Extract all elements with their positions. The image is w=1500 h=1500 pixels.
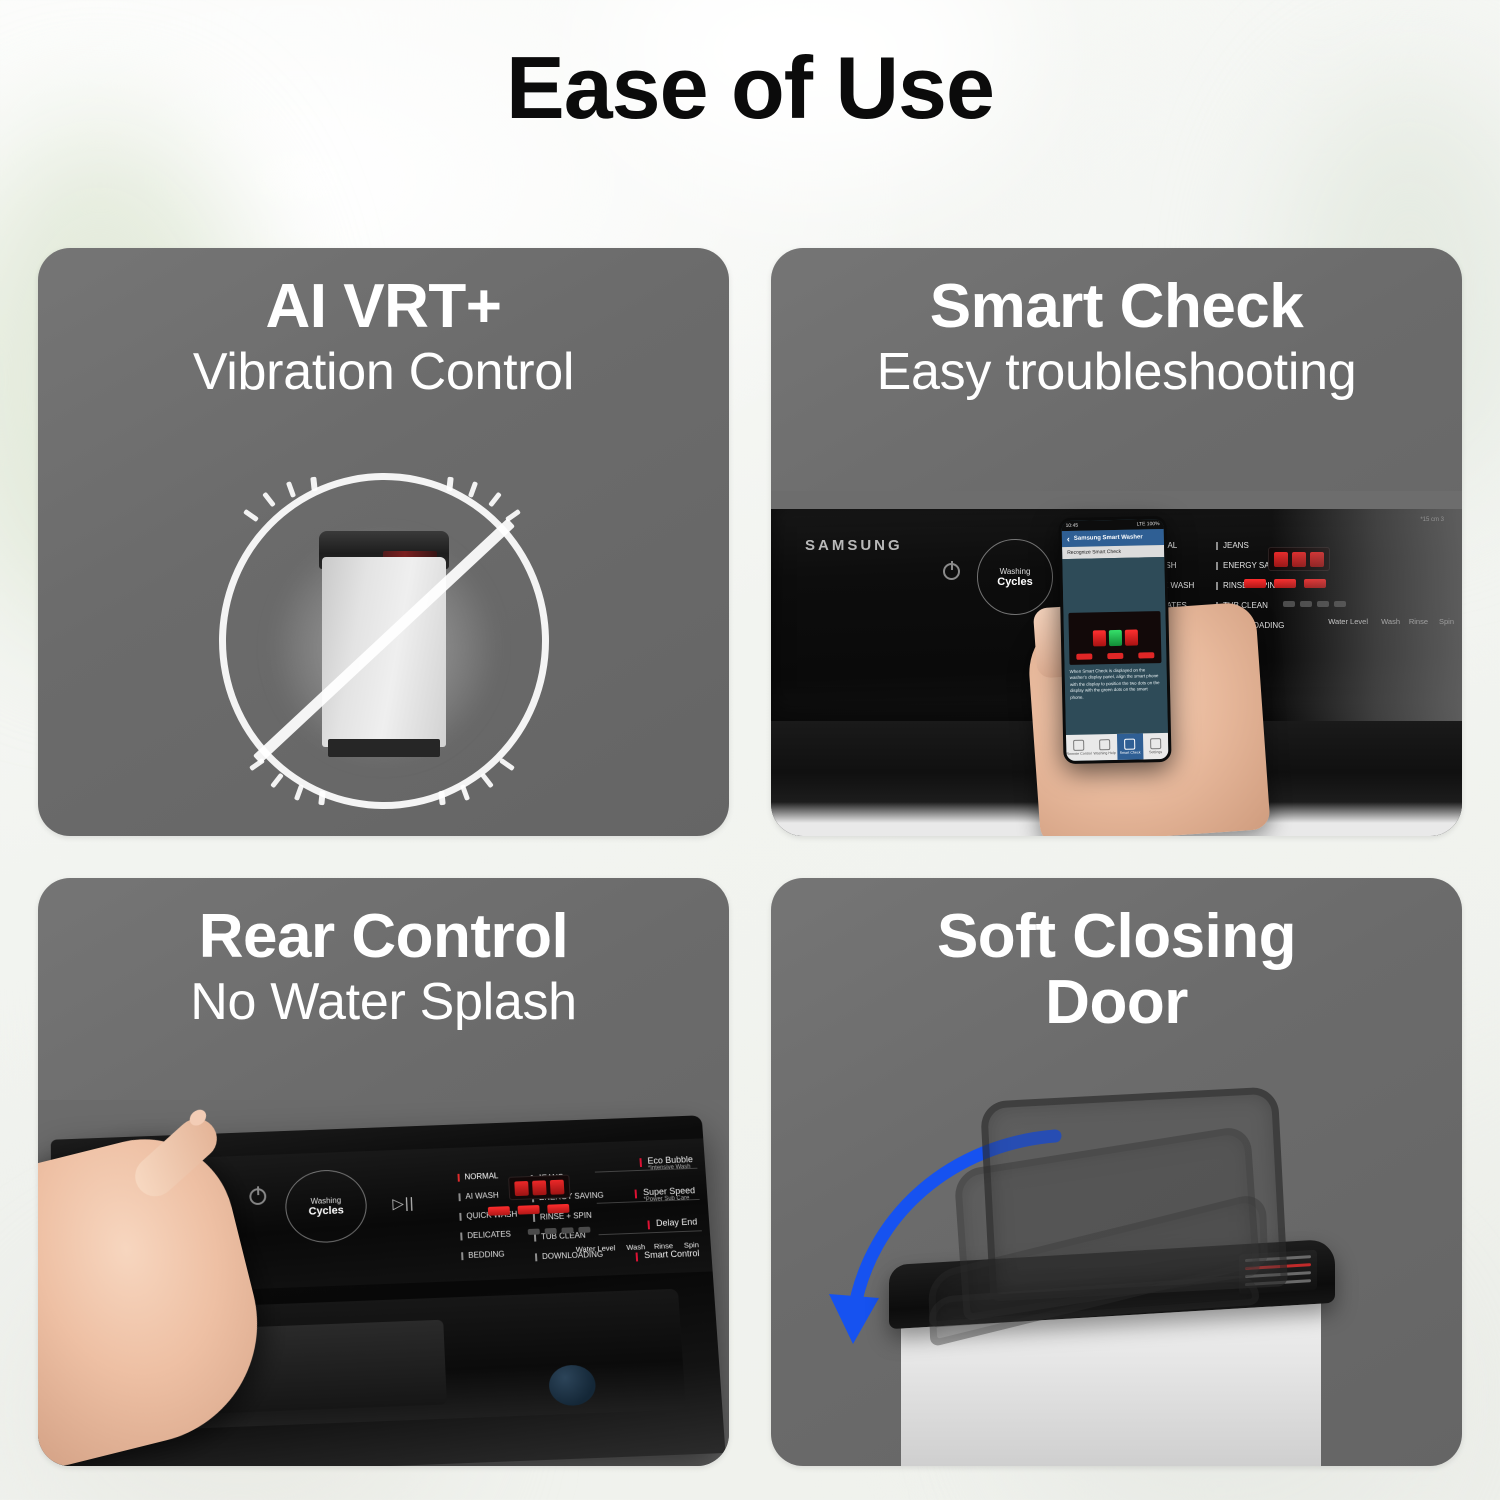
tab-label-settings: Settings xyxy=(1149,750,1162,754)
washing-cycles-dial[interactable]: Washing Cycles xyxy=(977,539,1053,615)
level-rinse[interactable]: Rinse xyxy=(1409,617,1428,626)
status-dots-row1 xyxy=(1283,601,1346,607)
phone-content: When Smart Check is displayed on the was… xyxy=(1062,557,1168,735)
scan-icon xyxy=(1124,739,1135,750)
level-spin[interactable]: Spin xyxy=(1439,617,1454,626)
tab-remote-control[interactable]: Remote Control xyxy=(1066,735,1092,762)
cycle-delicates-rear[interactable]: DELICATES xyxy=(467,1230,511,1241)
quick-button-stop[interactable] xyxy=(1274,579,1296,588)
panel-title-rear-control: Rear Control xyxy=(56,904,711,970)
dial-label-bottom-rear: Cycles xyxy=(308,1204,344,1217)
level-rinse-label: Rinse xyxy=(1409,617,1428,626)
panel-heading-smart-check: Smart Check Easy troubleshooting xyxy=(771,274,1462,401)
panel-title-soft-closing-line2: Door xyxy=(789,970,1444,1036)
dial-label-top: Washing xyxy=(1000,567,1031,576)
level-water-label: Water Level xyxy=(1328,617,1368,626)
lid-position-open xyxy=(980,1086,1288,1301)
level-water-rear[interactable]: Water Level xyxy=(576,1243,616,1253)
cycle-bedding-rear[interactable]: BEDDING xyxy=(468,1250,505,1260)
chevron-left-icon[interactable]: ‹ xyxy=(1067,534,1070,544)
quick-button-temp-rear[interactable] xyxy=(547,1204,569,1214)
samsung-logo: SAMSUNG xyxy=(805,537,903,554)
fingernail xyxy=(187,1106,210,1128)
option-delay-end-label: Delay End xyxy=(656,1217,698,1228)
led-display xyxy=(1268,547,1330,571)
panel-heading-rear-control: Rear Control No Water Splash xyxy=(38,904,729,1031)
panel-heading-soft-closing: Soft Closing Door xyxy=(771,904,1462,1035)
washing-cycles-dial-rear[interactable]: Washing Cycles xyxy=(284,1169,368,1244)
cycle-energy-saving[interactable]: ENERGY SAVING xyxy=(1223,561,1289,570)
panel-subtitle-ai-vrt: Vibration Control xyxy=(56,344,711,401)
level-wash-label: Wash xyxy=(1381,617,1400,626)
remote-icon xyxy=(1073,740,1084,751)
play-pause-icon-rear[interactable]: ▷|| xyxy=(392,1194,415,1212)
gear-icon xyxy=(1150,738,1161,749)
status-time: 10:45 xyxy=(1066,523,1079,529)
option-super-speed-sub: *Power Sub Care xyxy=(643,1195,695,1203)
option-smart-control[interactable]: Smart Control xyxy=(644,1248,700,1260)
panel-subtitle-smart-check: Easy troubleshooting xyxy=(789,344,1444,401)
panel-title-ai-vrt: AI VRT+ xyxy=(56,274,711,340)
tab-label-help: Washing Help xyxy=(1093,751,1115,755)
cycle-ai-wash-rear[interactable]: AI WASH xyxy=(465,1191,499,1201)
panel-heading-ai-vrt: AI VRT+ Vibration Control xyxy=(38,274,729,401)
feature-grid: AI VRT+ Vibration Control xyxy=(38,248,1462,1464)
no-vibration-badge xyxy=(219,473,549,809)
tab-label-smart-check: Smart Check xyxy=(1120,750,1141,754)
illustration-soft-closing-door xyxy=(771,1128,1462,1466)
instruction-text: When Smart Check is displayed on the was… xyxy=(1070,667,1163,701)
tab-smart-check[interactable]: Smart Check xyxy=(1117,733,1143,760)
cycle-normal-rear[interactable]: NORMAL xyxy=(464,1171,498,1181)
panel-ai-vrt-plus: AI VRT+ Vibration Control xyxy=(38,248,729,836)
status-right: LTE 100% xyxy=(1137,521,1160,527)
panel-soft-closing-door: Soft Closing Door xyxy=(771,878,1462,1466)
option-eco-bubble[interactable]: Eco Bubble *Intensive Wash xyxy=(647,1154,693,1171)
led-display-rear xyxy=(508,1175,571,1201)
level-wash-label-rear: Wash xyxy=(626,1242,645,1252)
app-title: Samsung Smart Washer xyxy=(1074,534,1143,541)
illustration-rear-control: SAMSUNG Washing Cycles ▷|| NORMAL AI WAS… xyxy=(38,1100,729,1466)
tab-settings[interactable]: Settings xyxy=(1142,733,1168,760)
level-spin-label: Spin xyxy=(1439,617,1454,626)
level-water-label-rear: Water Level xyxy=(576,1243,616,1253)
illustration-smart-check: SAMSUNG Washing Cycles ▷|| NORMAL AI WAS… xyxy=(771,491,1462,836)
power-icon[interactable] xyxy=(943,563,960,580)
led-reference-image xyxy=(1068,611,1161,665)
level-water[interactable]: Water Level xyxy=(1328,617,1368,626)
panel-subtitle-rear-control: No Water Splash xyxy=(56,974,711,1031)
phone-screen: 10:45 LTE 100% ‹ Samsung Smart Washer Re… xyxy=(1061,519,1168,761)
option-super-speed[interactable]: Super Speed *Power Sub Care xyxy=(643,1185,696,1203)
panel-smart-check: Smart Check Easy troubleshooting SAMSUNG… xyxy=(771,248,1462,836)
level-wash[interactable]: Wash xyxy=(1381,617,1400,626)
smartphone: 10:45 LTE 100% ‹ Samsung Smart Washer Re… xyxy=(1058,516,1171,764)
option-eco-bubble-sub: *Intensive Wash xyxy=(648,1164,694,1172)
quick-button-stop-rear[interactable] xyxy=(518,1205,540,1215)
illustration-no-vibration xyxy=(38,463,729,830)
page-root: Ease of Use AI VRT+ Vibration Control xyxy=(0,0,1500,1500)
panel-title-smart-check: Smart Check xyxy=(789,274,1444,340)
level-wash-rear[interactable]: Wash xyxy=(626,1242,645,1252)
panel-title-soft-closing-line1: Soft Closing xyxy=(789,904,1444,970)
page-title: Ease of Use xyxy=(0,42,1500,134)
quick-button-start-rear[interactable] xyxy=(488,1206,510,1216)
cycle-jeans[interactable]: JEANS xyxy=(1223,541,1249,550)
quick-button-start[interactable] xyxy=(1244,579,1266,588)
quick-button-temp[interactable] xyxy=(1304,579,1326,588)
sun-icon xyxy=(1099,739,1110,750)
lid-knob-rear xyxy=(548,1364,597,1406)
panel-rear-control: Rear Control No Water Splash SAMSUNG Was… xyxy=(38,878,729,1466)
led-reference-buttons xyxy=(1069,652,1161,660)
power-icon-rear[interactable] xyxy=(249,1188,266,1205)
option-smart-control-label: Smart Control xyxy=(644,1248,700,1260)
dial-label-bottom: Cycles xyxy=(997,576,1032,588)
tab-washing-help[interactable]: Washing Help xyxy=(1091,734,1117,761)
console-footnote: *15 cm 3 xyxy=(1420,517,1444,523)
tab-label-remote: Remote Control xyxy=(1066,752,1091,757)
option-delay-end[interactable]: Delay End xyxy=(656,1217,698,1228)
phone-tab-bar: Remote Control Washing Help Smart Check xyxy=(1066,733,1169,761)
